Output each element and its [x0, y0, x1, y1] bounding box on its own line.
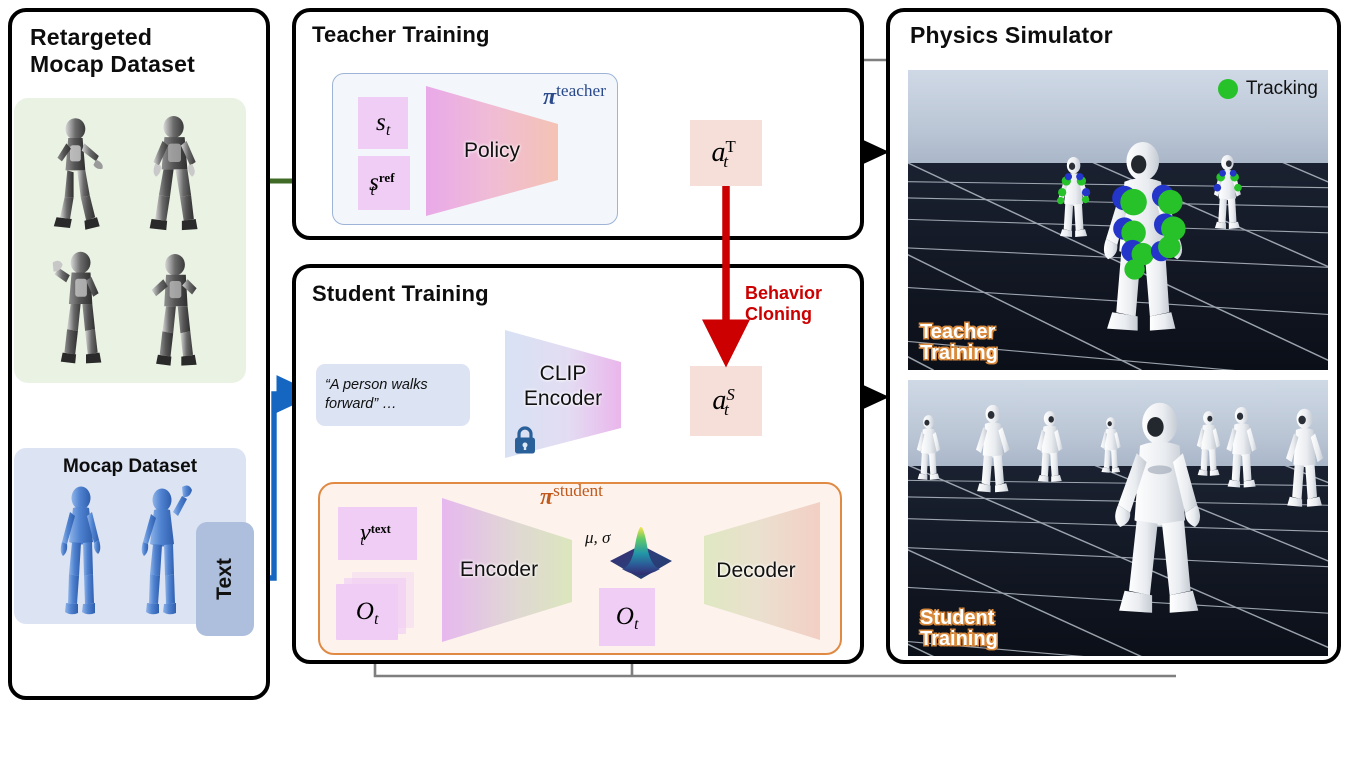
student-action-box: aSt [690, 366, 762, 436]
student-caption-line2: Training [920, 629, 998, 650]
teacher-training-title: Teacher Training [312, 22, 490, 48]
text-tab[interactable]: Text [196, 522, 254, 636]
retargeted-dataset-title: Retargeted Mocap Dataset [30, 24, 195, 78]
robot-thumbnails [14, 98, 246, 383]
tracking-legend-label: Tracking [1246, 78, 1318, 100]
retargeted-title-line2: Mocap Dataset [30, 51, 195, 78]
diagram-canvas: Retargeted Mocap Dataset [0, 0, 1349, 759]
teacher-sim-caption: Teacher Training [920, 322, 998, 364]
teacher-policy-trapezoid: Policy [424, 84, 560, 218]
behavior-cloning-line1: Behavior [745, 283, 822, 304]
text-prompt-value: “A person walks forward” … [325, 376, 461, 414]
teacher-caption-line2: Training [920, 343, 998, 364]
clip-label-line1: CLIP [540, 361, 587, 386]
student-text-latent-box: vtextt [338, 507, 417, 560]
text-prompt-box: “A person walks forward” … [316, 364, 470, 426]
teacher-action-box: aTt [690, 120, 762, 186]
latent-params-label: μ, σ [585, 528, 610, 548]
lock-icon [512, 425, 538, 460]
text-tab-label: Text [213, 558, 237, 600]
retargeted-title-line1: Retargeted [30, 24, 195, 51]
teacher-simulation-view: Tracking Teacher Training [908, 70, 1328, 370]
student-training-title: Student Training [312, 281, 489, 307]
teacher-policy-label: Policy [424, 84, 560, 218]
student-simulation-view: Student Training [908, 380, 1328, 656]
tracking-legend: Tracking [1218, 78, 1318, 100]
student-sim-caption: Student Training [920, 608, 998, 650]
student-caption-line1: Student [920, 608, 998, 629]
pi-teacher-symbol: π [543, 84, 556, 110]
student-encoder-trapezoid: Encoder [440, 496, 574, 644]
decoder-observation-box: Ot [599, 588, 655, 646]
pi-teacher-label: πteacher [543, 84, 606, 111]
student-encoder-label: Encoder [432, 496, 566, 644]
teacher-ref-state-box: sreft [358, 156, 410, 210]
retargeted-robot-gallery [14, 98, 246, 383]
teacher-caption-line1: Teacher [920, 322, 998, 343]
student-decoder-trapezoid: Decoder [702, 500, 822, 642]
teacher-state-box: st [358, 97, 408, 149]
behavior-cloning-label: Behavior Cloning [745, 283, 822, 325]
pi-student-superscript: student [553, 481, 603, 500]
physics-simulator-title: Physics Simulator [910, 22, 1113, 49]
gaussian-surface-icon [608, 525, 674, 581]
behavior-cloning-line2: Cloning [745, 304, 822, 325]
pi-student-label: πstudent [540, 484, 603, 511]
student-observation-stack: Ot [336, 572, 416, 644]
clip-label-line2: Encoder [524, 386, 602, 411]
student-observation-label: Ot [336, 584, 398, 640]
pi-teacher-superscript: teacher [556, 81, 606, 100]
mocap-dataset-title: Mocap Dataset [14, 456, 246, 478]
pi-student-symbol: π [540, 484, 553, 510]
tracking-dot-icon [1218, 79, 1238, 99]
student-decoder-label: Decoder [696, 500, 816, 642]
